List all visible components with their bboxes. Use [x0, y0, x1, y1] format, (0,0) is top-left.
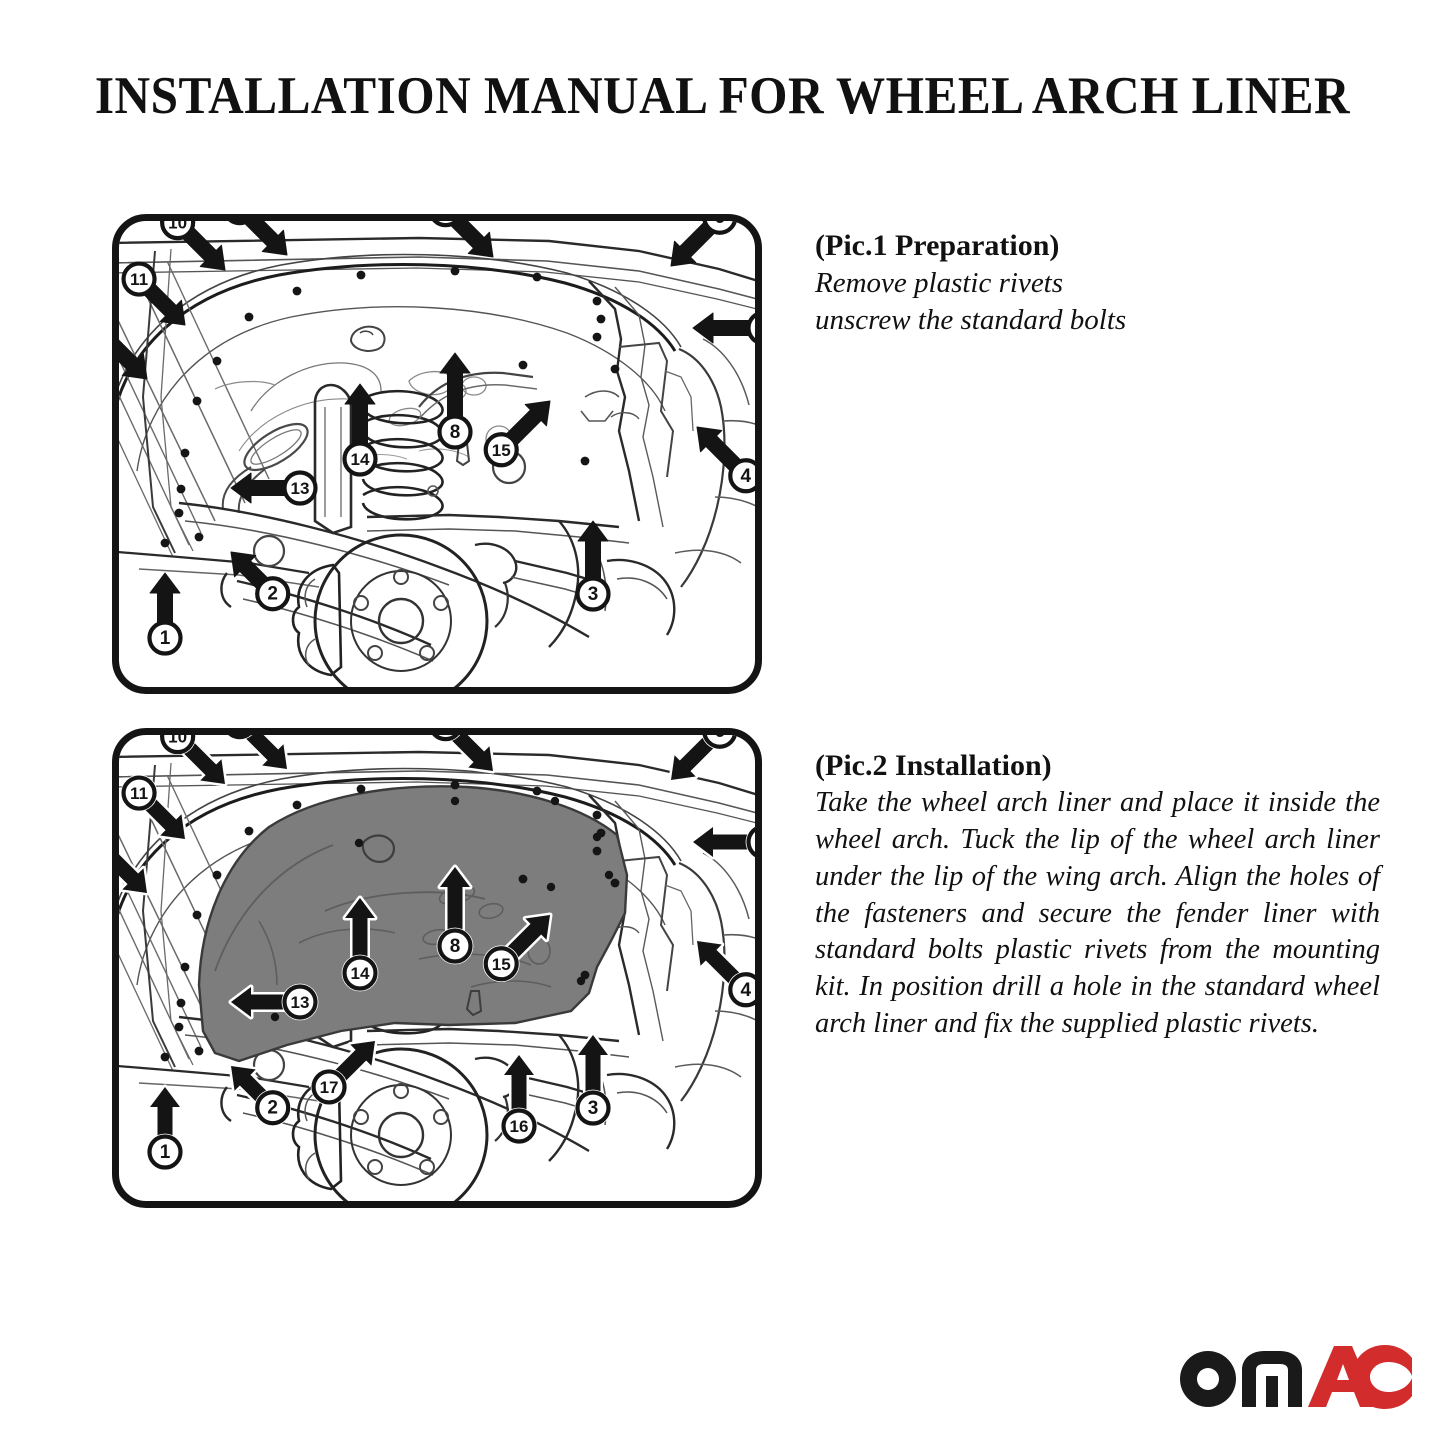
- callout-number-4: 4: [740, 466, 751, 487]
- callout-number-17: 17: [320, 1078, 339, 1097]
- logo-letter-m: [1242, 1351, 1302, 1407]
- callout-number-15: 15: [492, 955, 511, 974]
- callout-6: 6: [660, 221, 735, 277]
- pic2-caption: (Pic.2 Installation) Take the wheel arch…: [815, 748, 1380, 1043]
- manual-page: INSTALLATION MANUAL FOR WHEEL ARCH LINER: [0, 0, 1445, 1445]
- callout-15: 15: [486, 390, 561, 465]
- installation-diagram-panel: 1234567891011121314151617: [112, 728, 762, 1208]
- omac-logo-svg: [1176, 1334, 1412, 1412]
- callout-1: 1: [147, 1087, 184, 1170]
- callout-number-13: 13: [291, 993, 310, 1012]
- pic2-caption-body: Take the wheel arch liner and place it i…: [815, 785, 1380, 1042]
- pic2-caption-line-1: Take the wheel arch liner and place it i…: [815, 785, 1380, 1042]
- logo-letter-o: [1180, 1351, 1236, 1407]
- callout-number-14: 14: [351, 964, 370, 983]
- callout-5: 5: [693, 824, 755, 861]
- wheel-arch-liner: [199, 786, 627, 1061]
- callout-number-2: 2: [267, 584, 278, 605]
- callout-arrow-1: [150, 573, 180, 625]
- callout-4: 4: [686, 416, 755, 491]
- callout-arrow-5: [693, 827, 751, 857]
- callout-number-3: 3: [588, 1098, 599, 1119]
- callout-arrow-16: [504, 1055, 534, 1113]
- preparation-diagram-panel: 123456789101112131415: [112, 214, 762, 694]
- callout-6: 6: [660, 735, 738, 791]
- callout-number-4: 4: [740, 980, 751, 1001]
- callout-number-1: 1: [160, 628, 171, 649]
- callout-number-14: 14: [351, 450, 370, 469]
- callout-8: 8: [440, 353, 471, 448]
- callout-arrow-7: [444, 221, 503, 268]
- callout-arrow-13: [231, 473, 287, 503]
- callout-number-11: 11: [130, 784, 148, 803]
- pic1-caption-heading: (Pic.1 Preparation): [815, 228, 1380, 263]
- callout-7: 7: [427, 735, 503, 782]
- callout-number-8: 8: [450, 422, 461, 443]
- callout-arrow-8: [440, 353, 470, 419]
- callout-arrow-7: [444, 735, 503, 782]
- callout-number-10: 10: [168, 735, 187, 747]
- omac-logo: [1176, 1334, 1412, 1412]
- callout-number-11: 11: [130, 270, 148, 289]
- callout-5: 5: [693, 313, 755, 344]
- callout-circle-5: [749, 313, 756, 344]
- callout-1: 1: [150, 573, 181, 654]
- callout-3: 3: [578, 521, 609, 610]
- callout-number-2: 2: [267, 1098, 278, 1119]
- pic1-caption-line-1: Remove plastic rivets: [815, 265, 1380, 302]
- pic1-caption-body: Remove plastic rivets unscrew the standa…: [815, 265, 1380, 339]
- callout-arrow-1: [150, 1087, 180, 1139]
- callout-3: 3: [575, 1035, 612, 1126]
- callout-7: 7: [430, 221, 503, 268]
- installation-diagram-svg: 1234567891011121314151617: [119, 735, 755, 1201]
- preparation-diagram-svg: 123456789101112131415: [119, 221, 755, 687]
- callout-number-8: 8: [450, 936, 461, 957]
- pic1-caption: (Pic.1 Preparation) Remove plastic rivet…: [815, 228, 1380, 339]
- callout-number-3: 3: [588, 584, 599, 605]
- pic1-caption-line-2: unscrew the standard bolts: [815, 302, 1380, 339]
- callout-number-15: 15: [492, 441, 511, 460]
- callout-arrow-5: [693, 313, 751, 343]
- callout-number-6: 6: [714, 221, 725, 228]
- pic2-caption-heading: (Pic.2 Installation): [815, 748, 1380, 783]
- page-title: INSTALLATION MANUAL FOR WHEEL ARCH LINER: [51, 66, 1395, 126]
- callout-number-10: 10: [168, 221, 187, 233]
- callout-number-16: 16: [510, 1117, 529, 1136]
- callout-12: 12: [119, 829, 158, 904]
- callout-number-1: 1: [160, 1142, 171, 1163]
- callout-number-13: 13: [291, 479, 310, 498]
- vehicle-line-art: [119, 238, 755, 687]
- callout-number-6: 6: [714, 735, 725, 742]
